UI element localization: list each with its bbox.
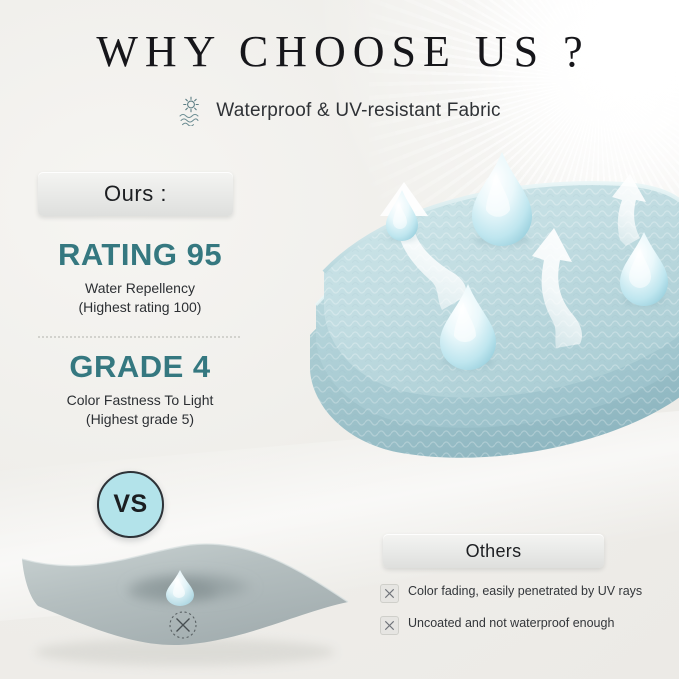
list-item-label: Color fading, easily penetrated by UV ra…: [408, 583, 642, 600]
list-item-label: Uncoated and not waterproof enough: [408, 615, 614, 632]
metric-rating-value: RATING 95: [10, 238, 270, 272]
gray-sheet-illustration: [0, 540, 370, 679]
vs-badge: VS: [97, 471, 164, 538]
x-mark-icon: [380, 584, 399, 603]
page-title: WHY CHOOSE US ?: [0, 30, 679, 74]
others-label-pill: Others: [383, 534, 604, 568]
sun-over-water-icon: [178, 96, 204, 126]
infographic-page: WHY CHOOSE US ?: [0, 0, 679, 679]
metric-grade-label-line2: (Highest grade 5): [10, 410, 270, 429]
metric-grade-value: GRADE 4: [10, 350, 270, 384]
metrics-divider: [38, 336, 240, 339]
metric-grade-label-line1: Color Fastness To Light: [10, 391, 270, 410]
metric-grade-label: Color Fastness To Light (Highest grade 5…: [10, 391, 270, 430]
x-mark-icon: [380, 616, 399, 635]
metric-rating-label-line2: (Highest rating 100): [10, 298, 270, 317]
ours-label-pill: Ours :: [38, 172, 233, 216]
list-item: Uncoated and not waterproof enough: [380, 615, 660, 635]
others-drawback-list: Color fading, easily penetrated by UV ra…: [380, 583, 660, 647]
metric-rating-label: Water Repellency (Highest rating 100): [10, 279, 270, 318]
metric-rating-label-line1: Water Repellency: [10, 279, 270, 298]
layered-fabric-illustration: [300, 120, 679, 500]
metric-grade: GRADE 4 Color Fastness To Light (Highest…: [10, 350, 270, 430]
water-droplet: [472, 152, 532, 246]
metric-rating: RATING 95 Water Repellency (Highest rati…: [10, 238, 270, 318]
list-item: Color fading, easily penetrated by UV ra…: [380, 583, 660, 603]
subtitle-text: Waterproof & UV-resistant Fabric: [216, 100, 500, 122]
